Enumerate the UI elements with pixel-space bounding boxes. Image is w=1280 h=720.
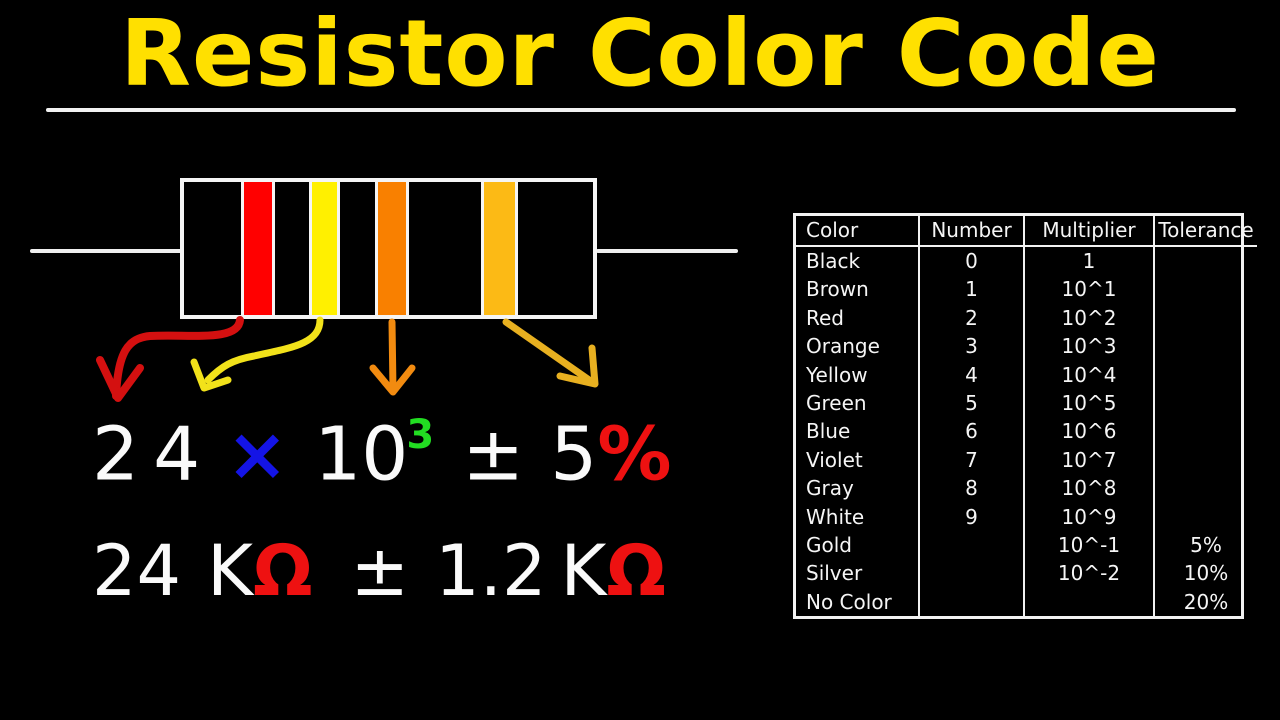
cell-multiplier xyxy=(1024,588,1154,616)
cell-color: Red xyxy=(796,304,919,332)
eq2-tolerance-value: 1.2 xyxy=(435,530,546,612)
resistor-band-1-red xyxy=(244,182,272,315)
arrow-band-3-orange xyxy=(373,322,412,392)
header-number: Number xyxy=(919,216,1024,246)
cell-color: Gray xyxy=(796,474,919,502)
cell-tolerance: 5% xyxy=(1154,531,1257,559)
cell-number: 0 xyxy=(919,246,1024,275)
table-row: Gold10^-15% xyxy=(796,531,1257,559)
cell-color: Green xyxy=(796,389,919,417)
cell-tolerance: 20% xyxy=(1154,588,1257,616)
table-row: Silver10^-210% xyxy=(796,559,1257,587)
cell-multiplier: 10^6 xyxy=(1024,417,1154,445)
cell-tolerance xyxy=(1154,361,1257,389)
cell-color: Yellow xyxy=(796,361,919,389)
cell-number: 6 xyxy=(919,417,1024,445)
equation-line-two: 24KΩ±1.2KΩ xyxy=(92,536,666,606)
cell-color: Brown xyxy=(796,275,919,303)
table-row: Yellow410^4 xyxy=(796,361,1257,389)
eq1-digit-one: 2 xyxy=(92,412,139,498)
eq1-tolerance-value: 5 xyxy=(550,412,597,498)
cell-number xyxy=(919,531,1024,559)
table-row: Blue610^6 xyxy=(796,417,1257,445)
cell-tolerance xyxy=(1154,246,1257,275)
eq2-tolerance-ohm-symbol: Ω xyxy=(606,530,666,612)
cell-tolerance xyxy=(1154,474,1257,502)
cell-color: Violet xyxy=(796,446,919,474)
cell-tolerance xyxy=(1154,389,1257,417)
resistor-body xyxy=(180,178,597,319)
cell-tolerance xyxy=(1154,275,1257,303)
eq1-digit-two: 4 xyxy=(153,412,200,498)
cell-number: 9 xyxy=(919,503,1024,531)
table-row: Orange310^3 xyxy=(796,332,1257,360)
band-separator-2 xyxy=(272,182,275,315)
resistor-band-4-gold xyxy=(484,182,515,315)
cell-multiplier: 10^7 xyxy=(1024,446,1154,474)
resistor-lead-right xyxy=(596,249,738,253)
table-row: Violet710^7 xyxy=(796,446,1257,474)
cell-multiplier: 10^-1 xyxy=(1024,531,1154,559)
eq2-plus-minus: ± xyxy=(351,530,410,612)
band-separator-6 xyxy=(406,182,409,315)
cell-multiplier: 10^1 xyxy=(1024,275,1154,303)
cell-multiplier: 10^5 xyxy=(1024,389,1154,417)
color-code-table: Color Number Multiplier Tolerance Black0… xyxy=(796,216,1257,616)
table-body: Black01Brown110^1Red210^2Orange310^3Yell… xyxy=(796,246,1257,616)
band-separator-4 xyxy=(337,182,340,315)
color-code-table-container: Color Number Multiplier Tolerance Black0… xyxy=(793,213,1244,619)
eq1-times-symbol: × xyxy=(226,412,288,498)
cell-multiplier: 10^-2 xyxy=(1024,559,1154,587)
table-row: Red210^2 xyxy=(796,304,1257,332)
cell-tolerance xyxy=(1154,332,1257,360)
cell-multiplier: 10^2 xyxy=(1024,304,1154,332)
cell-color: Black xyxy=(796,246,919,275)
cell-color: No Color xyxy=(796,588,919,616)
cell-color: Silver xyxy=(796,559,919,587)
cell-color: Orange xyxy=(796,332,919,360)
eq1-plus-minus: ± xyxy=(462,412,524,498)
cell-number: 5 xyxy=(919,389,1024,417)
arrow-band-4-gold xyxy=(506,322,595,384)
table-row: Brown110^1 xyxy=(796,275,1257,303)
cell-number: 3 xyxy=(919,332,1024,360)
cell-number xyxy=(919,559,1024,587)
cell-multiplier: 10^3 xyxy=(1024,332,1154,360)
eq1-base: 10 xyxy=(314,412,408,498)
cell-number: 4 xyxy=(919,361,1024,389)
table-row: Green510^5 xyxy=(796,389,1257,417)
eq1-exponent: 3 xyxy=(406,412,434,458)
table-row: White910^9 xyxy=(796,503,1257,531)
eq1-percent-symbol: % xyxy=(597,412,671,498)
cell-tolerance xyxy=(1154,503,1257,531)
cell-number: 2 xyxy=(919,304,1024,332)
resistor-lead-left xyxy=(30,249,183,253)
cell-multiplier: 10^8 xyxy=(1024,474,1154,502)
band-separator-8 xyxy=(515,182,518,315)
cell-multiplier: 10^9 xyxy=(1024,503,1154,531)
arrow-band-2-yellow xyxy=(194,320,320,388)
cell-multiplier: 10^4 xyxy=(1024,361,1154,389)
cell-tolerance: 10% xyxy=(1154,559,1257,587)
eq2-ohm-symbol: Ω xyxy=(253,530,313,612)
table-row: Black01 xyxy=(796,246,1257,275)
eq2-value: 24 xyxy=(92,530,181,612)
cell-color: Gold xyxy=(796,531,919,559)
eq2-tolerance-prefix: K xyxy=(560,530,606,612)
resistor-band-3-orange xyxy=(378,182,406,315)
table-row: Gray810^8 xyxy=(796,474,1257,502)
resistor-diagram xyxy=(0,0,780,340)
eq2-unit-prefix: K xyxy=(207,530,253,612)
equation-line-one: 24×103±5% xyxy=(92,404,671,492)
header-multiplier: Multiplier xyxy=(1024,216,1154,246)
cell-number: 8 xyxy=(919,474,1024,502)
cell-color: Blue xyxy=(796,417,919,445)
cell-tolerance xyxy=(1154,417,1257,445)
header-tolerance: Tolerance xyxy=(1154,216,1257,246)
table-header-row: Color Number Multiplier Tolerance xyxy=(796,216,1257,246)
cell-number: 7 xyxy=(919,446,1024,474)
cell-multiplier: 1 xyxy=(1024,246,1154,275)
arrow-band-1-red xyxy=(100,320,240,398)
resistor-band-2-yellow xyxy=(312,182,337,315)
cell-tolerance xyxy=(1154,304,1257,332)
cell-number xyxy=(919,588,1024,616)
header-color: Color xyxy=(796,216,919,246)
cell-tolerance xyxy=(1154,446,1257,474)
cell-color: White xyxy=(796,503,919,531)
table-row: No Color20% xyxy=(796,588,1257,616)
cell-number: 1 xyxy=(919,275,1024,303)
